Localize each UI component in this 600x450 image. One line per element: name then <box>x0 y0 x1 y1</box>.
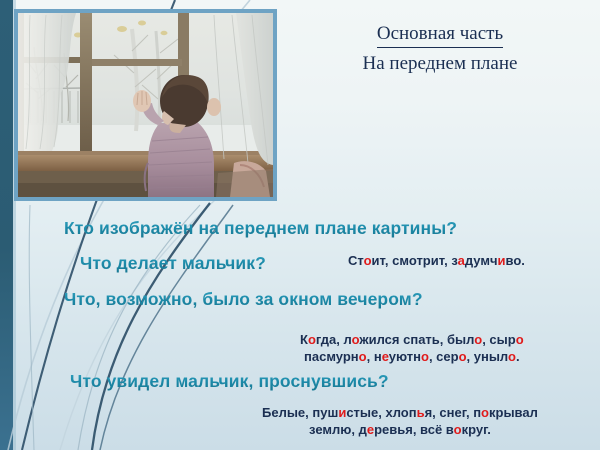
page-subtitle: На переднем плане <box>290 51 590 77</box>
answer-2: Когда, ложился спать, было, сыро пасмурн… <box>300 331 524 365</box>
slide-canvas: Основная часть На переднем плане Кто изо… <box>0 0 600 450</box>
answer-1: Стоит, смотрит, задумчиво. <box>348 252 525 269</box>
answer-1-line-1: Стоит, смотрит, задумчиво. <box>348 253 525 268</box>
painting-frame <box>14 9 277 201</box>
page-title: Основная часть <box>377 22 503 48</box>
answer-3-line-2: землю, деревья, всё вокруг. <box>262 421 538 438</box>
title-block: Основная часть На переднем плане <box>290 22 590 77</box>
answer-2-line-1: Когда, ложился спать, было, сыро <box>300 332 524 347</box>
answer-3: Белые, пушистые, хлопья, снег, покрывал … <box>262 404 538 438</box>
answer-3-line-1: Белые, пушистые, хлопья, снег, покрывал <box>262 405 538 420</box>
boy-at-window-winter-painting <box>18 13 273 197</box>
question-4: Что увидел мальчик, проснувшись? <box>70 371 389 392</box>
answer-2-line-2: пасмурно, неуютно, серо, уныло. <box>300 348 524 365</box>
left-accent-bar <box>0 0 13 450</box>
question-1: Кто изображён на переднем плане картины? <box>64 218 457 239</box>
question-2: Что делает мальчик? <box>80 253 266 274</box>
question-3: Что, возможно, было за окном вечером? <box>64 289 423 310</box>
